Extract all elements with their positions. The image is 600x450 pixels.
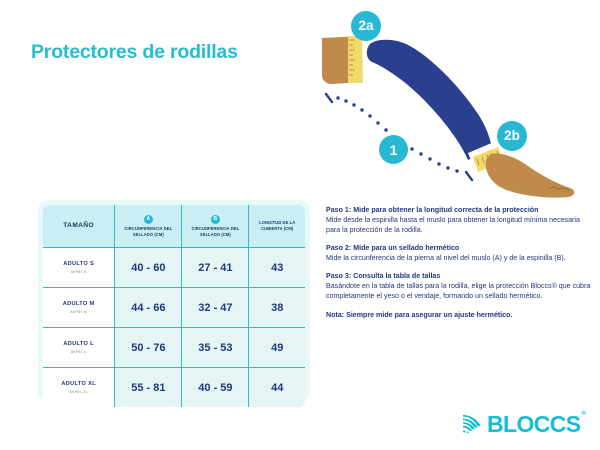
cell-circumference-b: 27 - 41 [182, 248, 249, 288]
badge-1: 1 [379, 135, 408, 164]
cell-circumference-a: 55 - 81 [115, 368, 182, 408]
size-code: AKP87-S [43, 270, 114, 274]
size-table-container: TAMAÑO A CIRCUNFERENCIA DEL SELLADO (CM)… [38, 200, 310, 402]
step-2: Paso 2: Mide para un sellado hermético M… [326, 243, 592, 263]
badge-b-icon: B [211, 215, 220, 224]
badge-2b: 2b [497, 121, 527, 151]
step-3-body: Basándote en la tabla de tallas para la … [326, 281, 592, 301]
step-1-heading: Paso 1: Mide para obtener la longitud co… [326, 205, 592, 215]
cell-length: 49 [249, 328, 306, 368]
column-header-length: LONGITUD DE LA CUBIERTA (CM) [249, 205, 306, 248]
column-header-circumference-a-label: CIRCUNFERENCIA DEL SELLADO (CM) [124, 226, 172, 237]
size-name: ADULTO S [43, 261, 114, 268]
cell-circumference-a: 44 - 66 [115, 288, 182, 328]
cell-size: ADULTO S AKP87-S [43, 248, 115, 288]
logo-wordmark: BLOCCS® [487, 413, 584, 436]
page-title: Protectores de rodillas [31, 41, 238, 64]
cell-circumference-b: 35 - 53 [182, 328, 249, 368]
table-header-row: TAMAÑO A CIRCUNFERENCIA DEL SELLADO (CM)… [43, 205, 306, 248]
column-header-circumference-b: B CIRCUNFERENCIA DEL SELLADO (CM) [182, 205, 249, 248]
size-name: ADULTO M [43, 301, 114, 308]
column-header-circumference-b-label: CIRCUNFERENCIA DEL SELLADO (CM) [191, 226, 239, 237]
step-3-heading: Paso 3: Consulta la tabla de tallas [326, 271, 592, 281]
cell-size: ADULTO M AKP87-M [43, 288, 115, 328]
size-table: TAMAÑO A CIRCUNFERENCIA DEL SELLADO (CM)… [42, 204, 306, 408]
table-row: ADULTO S AKP87-S 40 - 60 27 - 41 43 [43, 248, 306, 288]
size-name: ADULTO L [43, 341, 114, 348]
cell-circumference-b: 32 - 47 [182, 288, 249, 328]
cell-length: 43 [249, 248, 306, 288]
cell-circumference-a: 40 - 60 [115, 248, 182, 288]
cell-size: ADULTO XL AKP87-XL [43, 368, 115, 408]
table-row: ADULTO L AKP87-L 50 - 76 35 - 53 49 [43, 328, 306, 368]
note-text: Nota: Siempre mide para asegurar un ajus… [326, 310, 592, 320]
cell-length: 38 [249, 288, 306, 328]
step-2-heading: Paso 2: Mide para un sellado hermético [326, 243, 592, 253]
size-code: AKP87-M [43, 310, 114, 314]
column-header-circumference-a: A CIRCUNFERENCIA DEL SELLADO (CM) [115, 205, 182, 248]
step-1: Paso 1: Mide para obtener la longitud co… [326, 205, 592, 235]
instructions-panel: Paso 1: Mide para obtener la longitud co… [326, 205, 592, 320]
size-code: AKP87-L [43, 350, 114, 354]
logo-wordmark-text: BLOCCS [487, 411, 581, 437]
column-header-length-label: LONGITUD DE LA CUBIERTA (CM) [259, 220, 295, 231]
logo-trademark: ® [582, 411, 586, 417]
badge-2a: 2a [351, 11, 381, 41]
cell-circumference-a: 50 - 76 [115, 328, 182, 368]
size-name: ADULTO XL [43, 381, 114, 388]
step-1-body: Mide desde la espinilla hasta el muslo p… [326, 215, 592, 235]
wave-mark-icon [461, 413, 485, 435]
badge-a-icon: A [144, 215, 153, 224]
column-header-size: TAMAÑO [43, 205, 115, 248]
foot-skin [486, 154, 575, 198]
cell-length: 44 [249, 368, 306, 408]
size-code: AKP87-XL [43, 390, 114, 394]
bloccs-logo: BLOCCS® [461, 409, 596, 439]
table-row: ADULTO M AKP87-M 44 - 66 32 - 47 38 [43, 288, 306, 328]
step-3: Paso 3: Consulta la tabla de tallas Basá… [326, 271, 592, 301]
table-row: ADULTO XL AKP87-XL 55 - 81 40 - 59 44 [43, 368, 306, 408]
step-2-body: Mide la circunferencia de la pierna al n… [326, 253, 592, 263]
tape-thigh [348, 36, 364, 83]
column-header-size-label: TAMAÑO [63, 222, 94, 229]
cell-circumference-b: 40 - 59 [182, 368, 249, 408]
cell-size: ADULTO L AKP87-L [43, 328, 115, 368]
infographic-page: Protectores de rodillas [0, 0, 600, 450]
